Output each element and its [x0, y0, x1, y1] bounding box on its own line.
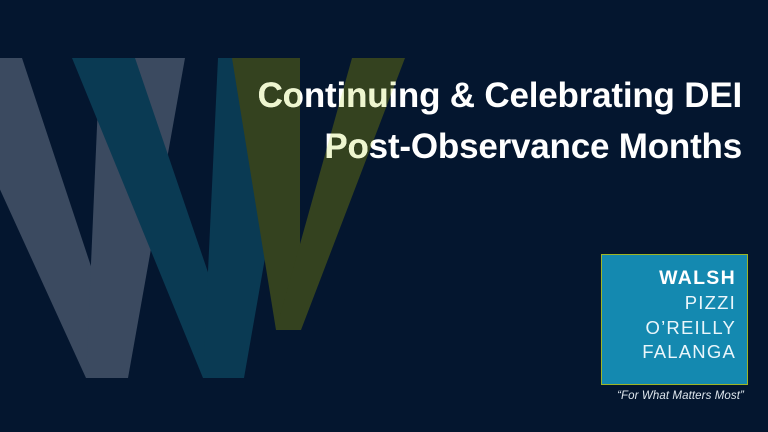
logo-box: WALSH PIZZI O’REILLY FALANGA — [601, 254, 748, 385]
logo-name-oreilly: O’REILLY — [602, 316, 736, 341]
firm-logo: WALSH PIZZI O’REILLY FALANGA “For What M… — [601, 254, 748, 402]
logo-name-walsh: WALSH — [602, 265, 736, 291]
logo-tagline: “For What Matters Most” — [601, 390, 748, 402]
logo-name-pizzi: PIZZI — [602, 291, 736, 316]
slide-canvas: Continuing & Celebrating DEI Post-Observ… — [0, 0, 768, 432]
slide-title: Continuing & Celebrating DEI Post-Observ… — [258, 76, 742, 166]
logo-name-falanga: FALANGA — [602, 340, 736, 365]
title-line-2: Post-Observance Months — [324, 127, 742, 166]
title-line-1: Continuing & Celebrating DEI — [258, 76, 742, 115]
